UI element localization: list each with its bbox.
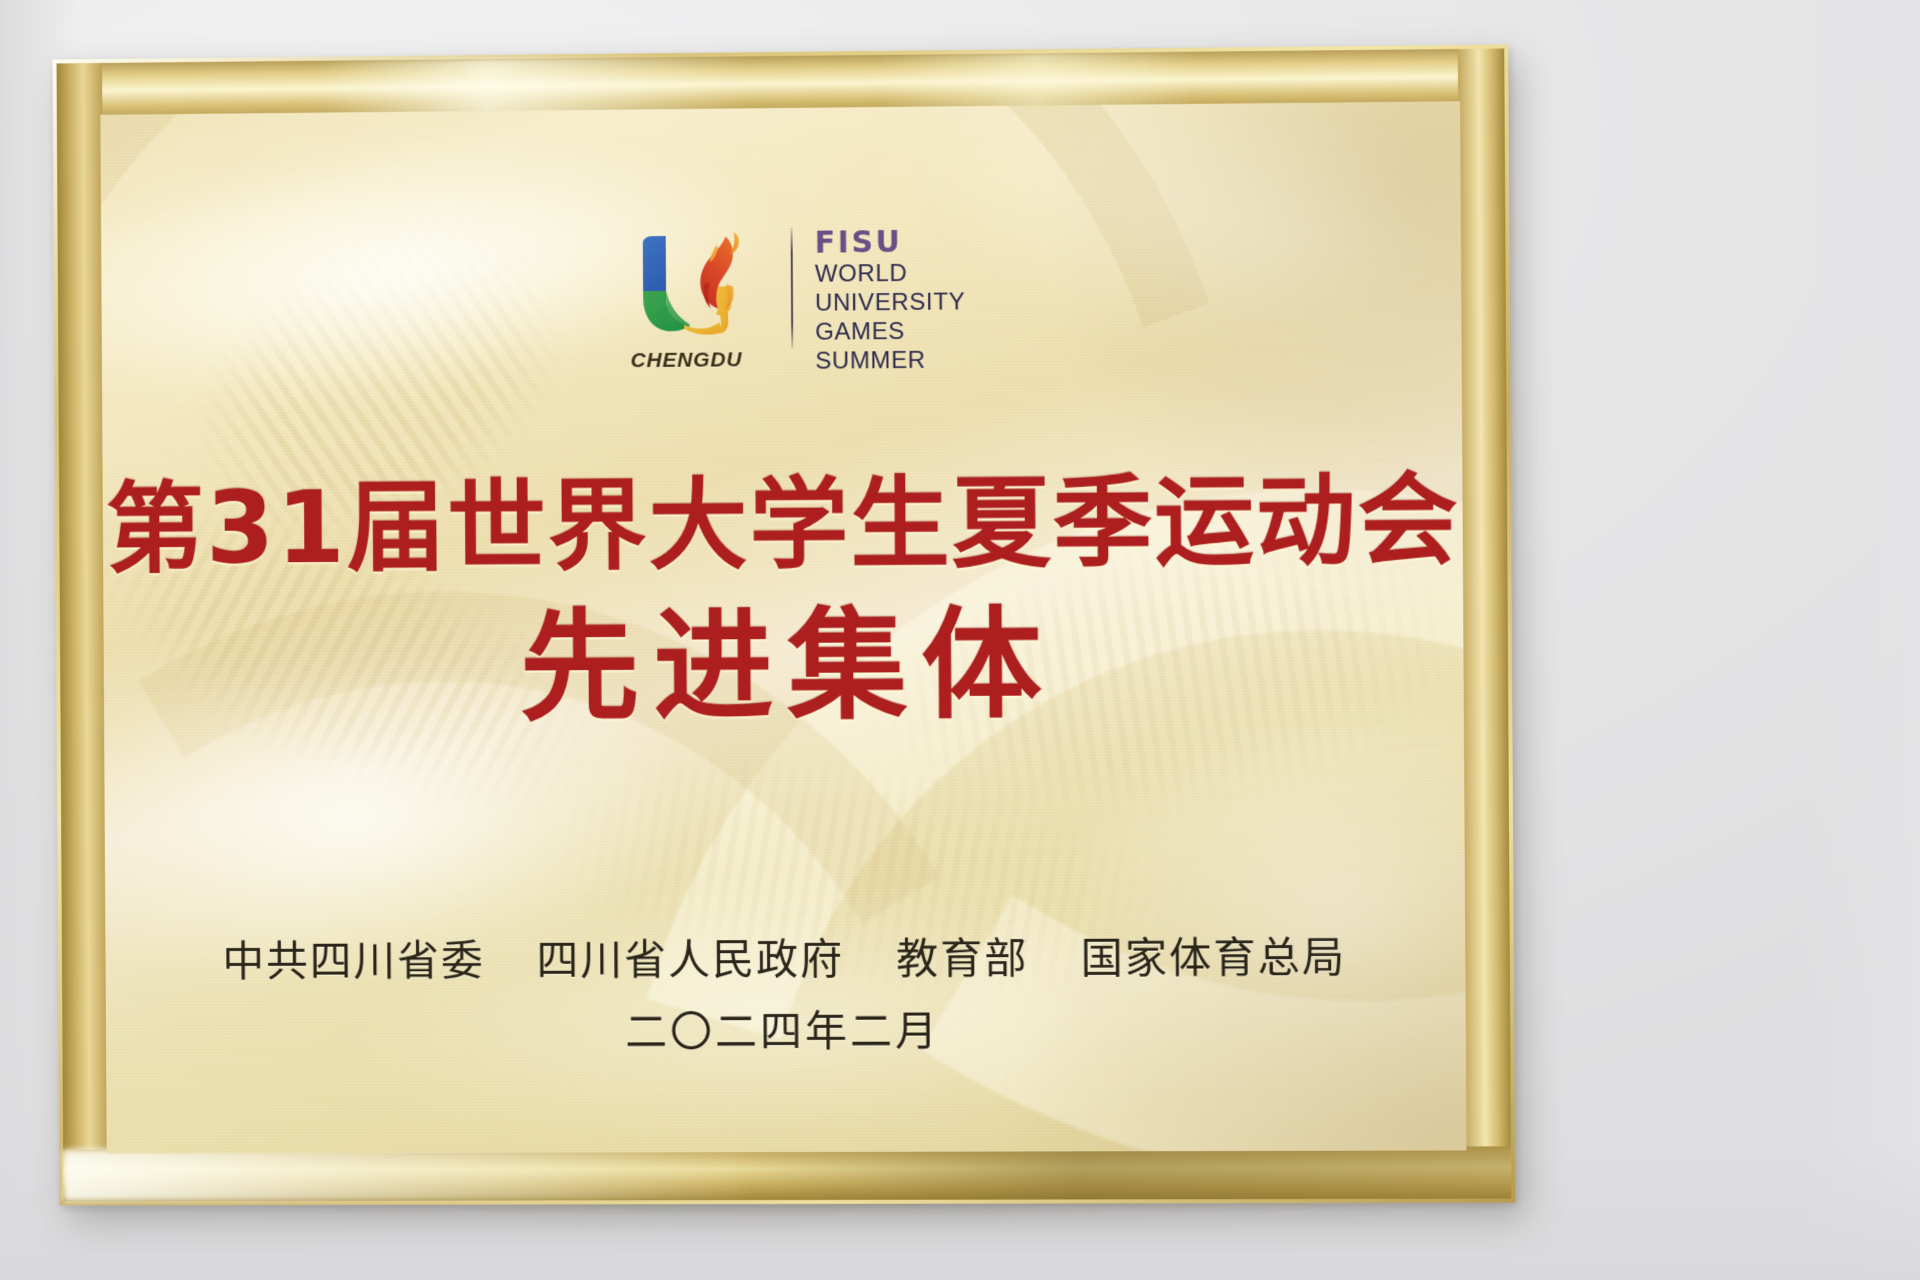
- organization-item: 四川省人民政府: [536, 926, 844, 988]
- emblem-u-stroke: [643, 236, 690, 332]
- plaque-face: CHENGDU FISU WORLD UNIVERSITY GAMES SUMM…: [100, 101, 1466, 1153]
- issuing-organizations: 中共四川省委 四川省人民政府 教育部 国家体育总局: [105, 923, 1465, 989]
- award-title-line-2: 先进集体: [103, 604, 1463, 732]
- issue-date: 二〇二四年二月: [106, 996, 1466, 1061]
- award-plaque: CHENGDU FISU WORLD UNIVERSITY GAMES SUMM…: [53, 44, 1516, 1205]
- organization-item: 国家体育总局: [1080, 924, 1346, 986]
- fisu-line-world: WORLD: [815, 259, 965, 289]
- fisu-text-block: FISU WORLD UNIVERSITY GAMES SUMMER: [815, 224, 966, 376]
- bevel-bottom-glow: [63, 1148, 754, 1201]
- fisu-line-summer: SUMMER: [815, 347, 965, 377]
- fisu-line-university: UNIVERSITY: [815, 288, 965, 318]
- bevel-bottom-shadow: [725, 1146, 1511, 1200]
- plaque-bevel-bottom: [63, 1146, 1511, 1201]
- plaque-content: CHENGDU FISU WORLD UNIVERSITY GAMES SUMM…: [100, 101, 1466, 1153]
- chengdu-wordmark: CHENGDU: [631, 348, 743, 373]
- logo-divider: [791, 228, 794, 348]
- fisu-chengdu-logo-lockup: CHENGDU FISU WORLD UNIVERSITY GAMES SUMM…: [101, 220, 1462, 382]
- award-title-line-1: 第31届世界大学生夏季运动会: [103, 471, 1463, 579]
- wall-shadow-right: [1800, 0, 1920, 1280]
- fisu-line-games: GAMES: [815, 318, 965, 348]
- chengdu-fisu-flame-emblem: [622, 226, 751, 345]
- chengdu-emblem-group: CHENGDU: [591, 226, 782, 374]
- organization-item: 中共四川省委: [222, 927, 485, 989]
- organization-item: 教育部: [896, 925, 1029, 987]
- fisu-wordmark: FISU: [815, 226, 965, 259]
